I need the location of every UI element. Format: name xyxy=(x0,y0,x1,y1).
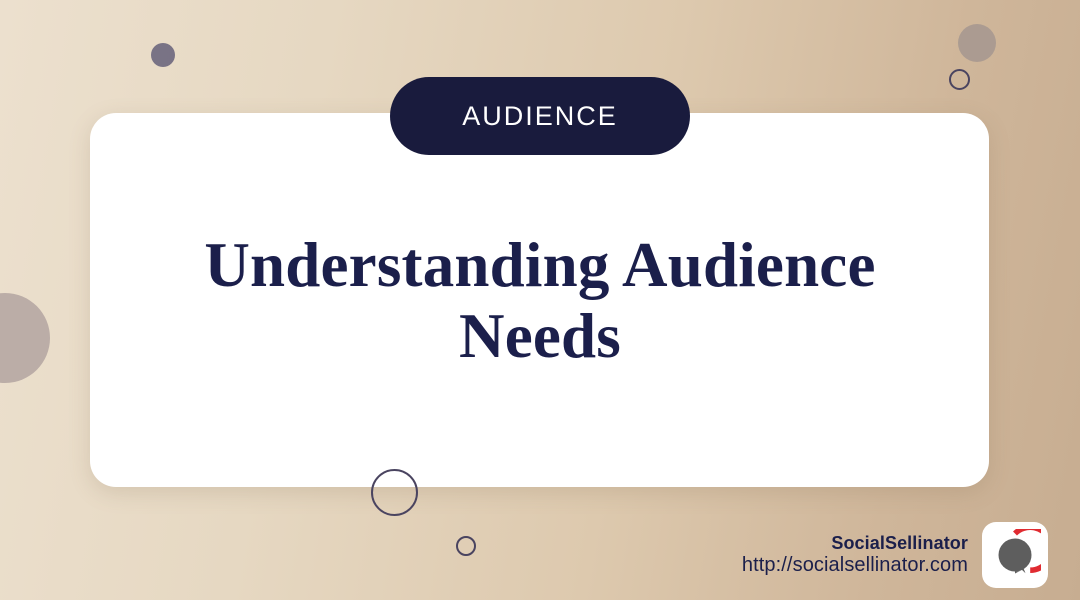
brand-logo-tile xyxy=(982,522,1048,588)
socialsellinator-speech-bubble-logo-icon xyxy=(989,529,1041,581)
brand-name: SocialSellinator xyxy=(742,533,968,554)
page-title: Understanding Audience Needs xyxy=(140,230,940,371)
footer-branding: SocialSellinator http://socialsellinator… xyxy=(742,522,1048,588)
decorative-ring-top-right-icon xyxy=(949,69,970,90)
decorative-dot-top-right-icon xyxy=(958,24,996,62)
decorative-blob-left-edge-icon xyxy=(0,293,50,383)
page-title-line-1: Understanding Audience xyxy=(140,230,940,301)
brand-text-block: SocialSellinator http://socialsellinator… xyxy=(742,533,968,578)
brand-url[interactable]: http://socialsellinator.com xyxy=(742,554,968,578)
page-title-line-2: Needs xyxy=(140,301,940,372)
decorative-ring-small-bottom-icon xyxy=(456,536,476,556)
category-badge-label: AUDIENCE xyxy=(462,101,618,132)
category-badge: AUDIENCE xyxy=(390,77,690,155)
slide-canvas: AUDIENCE Understanding Audience Needs So… xyxy=(0,0,1080,600)
decorative-dot-top-left-icon xyxy=(151,43,175,67)
